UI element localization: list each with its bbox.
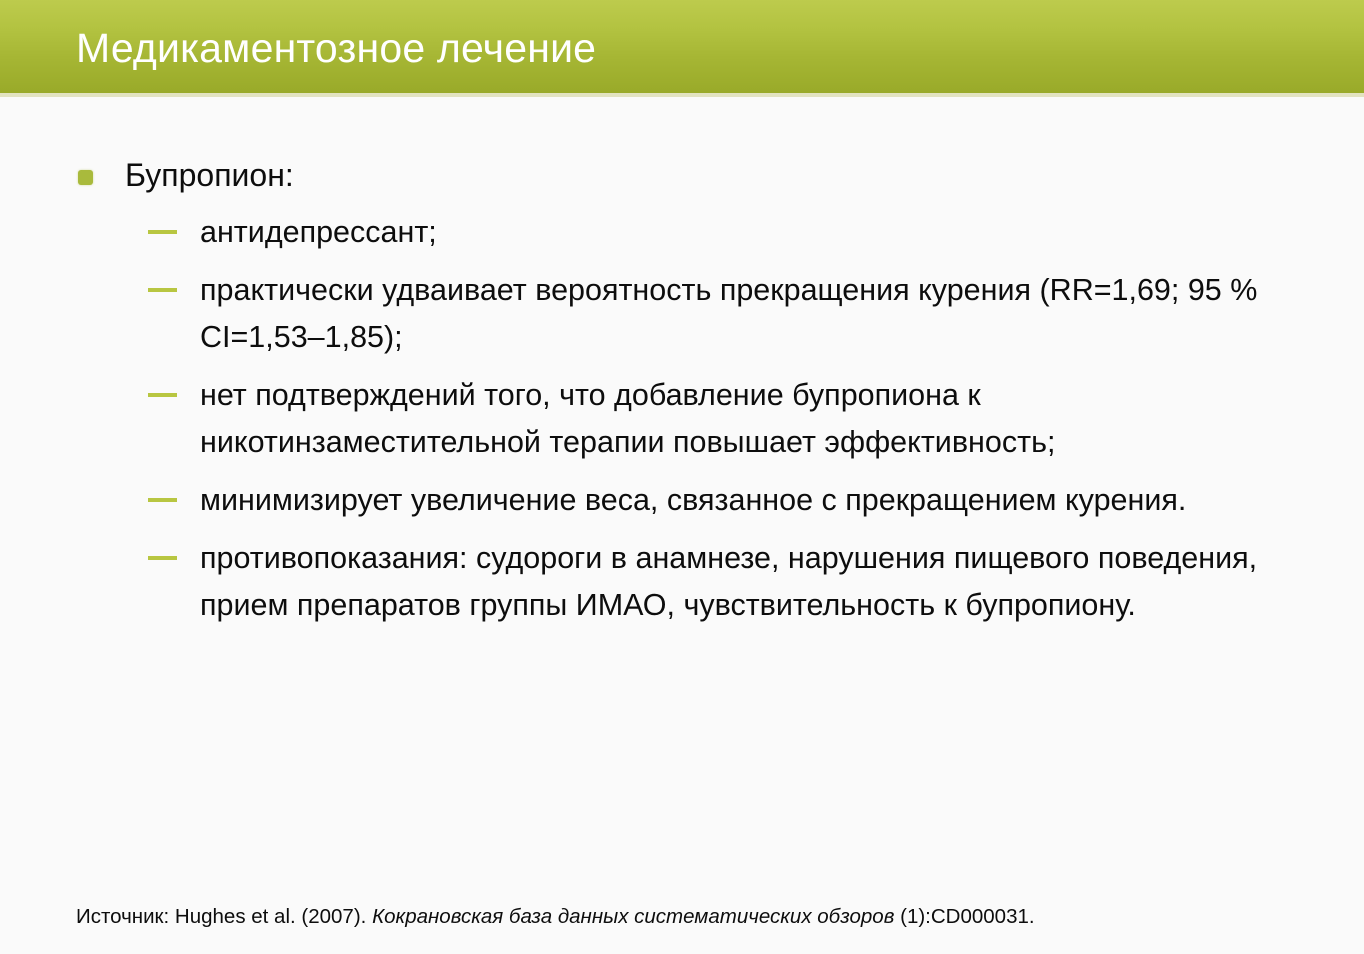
list-item: практически удваивает вероятность прекра…: [70, 267, 1330, 361]
list-item-text: нет подтверждений того, что добавление б…: [200, 372, 1300, 466]
bullet-item-label: Бупропион:: [125, 154, 1310, 196]
square-bullet-icon: [78, 170, 93, 185]
dash-bullet-icon: [148, 498, 177, 502]
list-item-text: противопоказания: судороги в анамнезе, н…: [200, 535, 1300, 629]
source-prefix: Источник: Hughes et al. (2007).: [76, 905, 372, 928]
slide-header: Медикаментозное лечение: [0, 0, 1364, 93]
slide-content: Бупропион: антидепрессант; практически у…: [0, 97, 1364, 897]
dash-bullet-icon: [148, 393, 177, 397]
dash-bullet-icon: [148, 230, 177, 234]
list-item-text: антидепрессант;: [200, 209, 1300, 256]
dash-bullet-icon: [148, 288, 177, 292]
page-title: Медикаментозное лечение: [76, 22, 596, 74]
list-item: антидепрессант;: [70, 209, 1330, 256]
sub-bullet-list: антидепрессант; практически удваивает ве…: [70, 209, 1330, 629]
list-item: противопоказания: судороги в анамнезе, н…: [70, 535, 1330, 629]
list-item-text: практически удваивает вероятность прекра…: [200, 267, 1300, 361]
source-journal-title: Кокрановская база данных систематических…: [372, 905, 894, 928]
bullet-item-bupropion: Бупропион:: [70, 154, 1310, 196]
list-item: минимизирует увеличение веса, связанное …: [70, 477, 1330, 524]
source-suffix: (1):CD000031.: [894, 905, 1034, 928]
list-item: нет подтверждений того, что добавление б…: [70, 372, 1330, 466]
dash-bullet-icon: [148, 556, 177, 560]
slide: Медикаментозное лечение Бупропион: антид…: [0, 0, 1364, 954]
list-item-text: минимизирует увеличение веса, связанное …: [200, 477, 1300, 524]
source-citation: Источник: Hughes et al. (2007). Кокранов…: [76, 903, 1035, 931]
